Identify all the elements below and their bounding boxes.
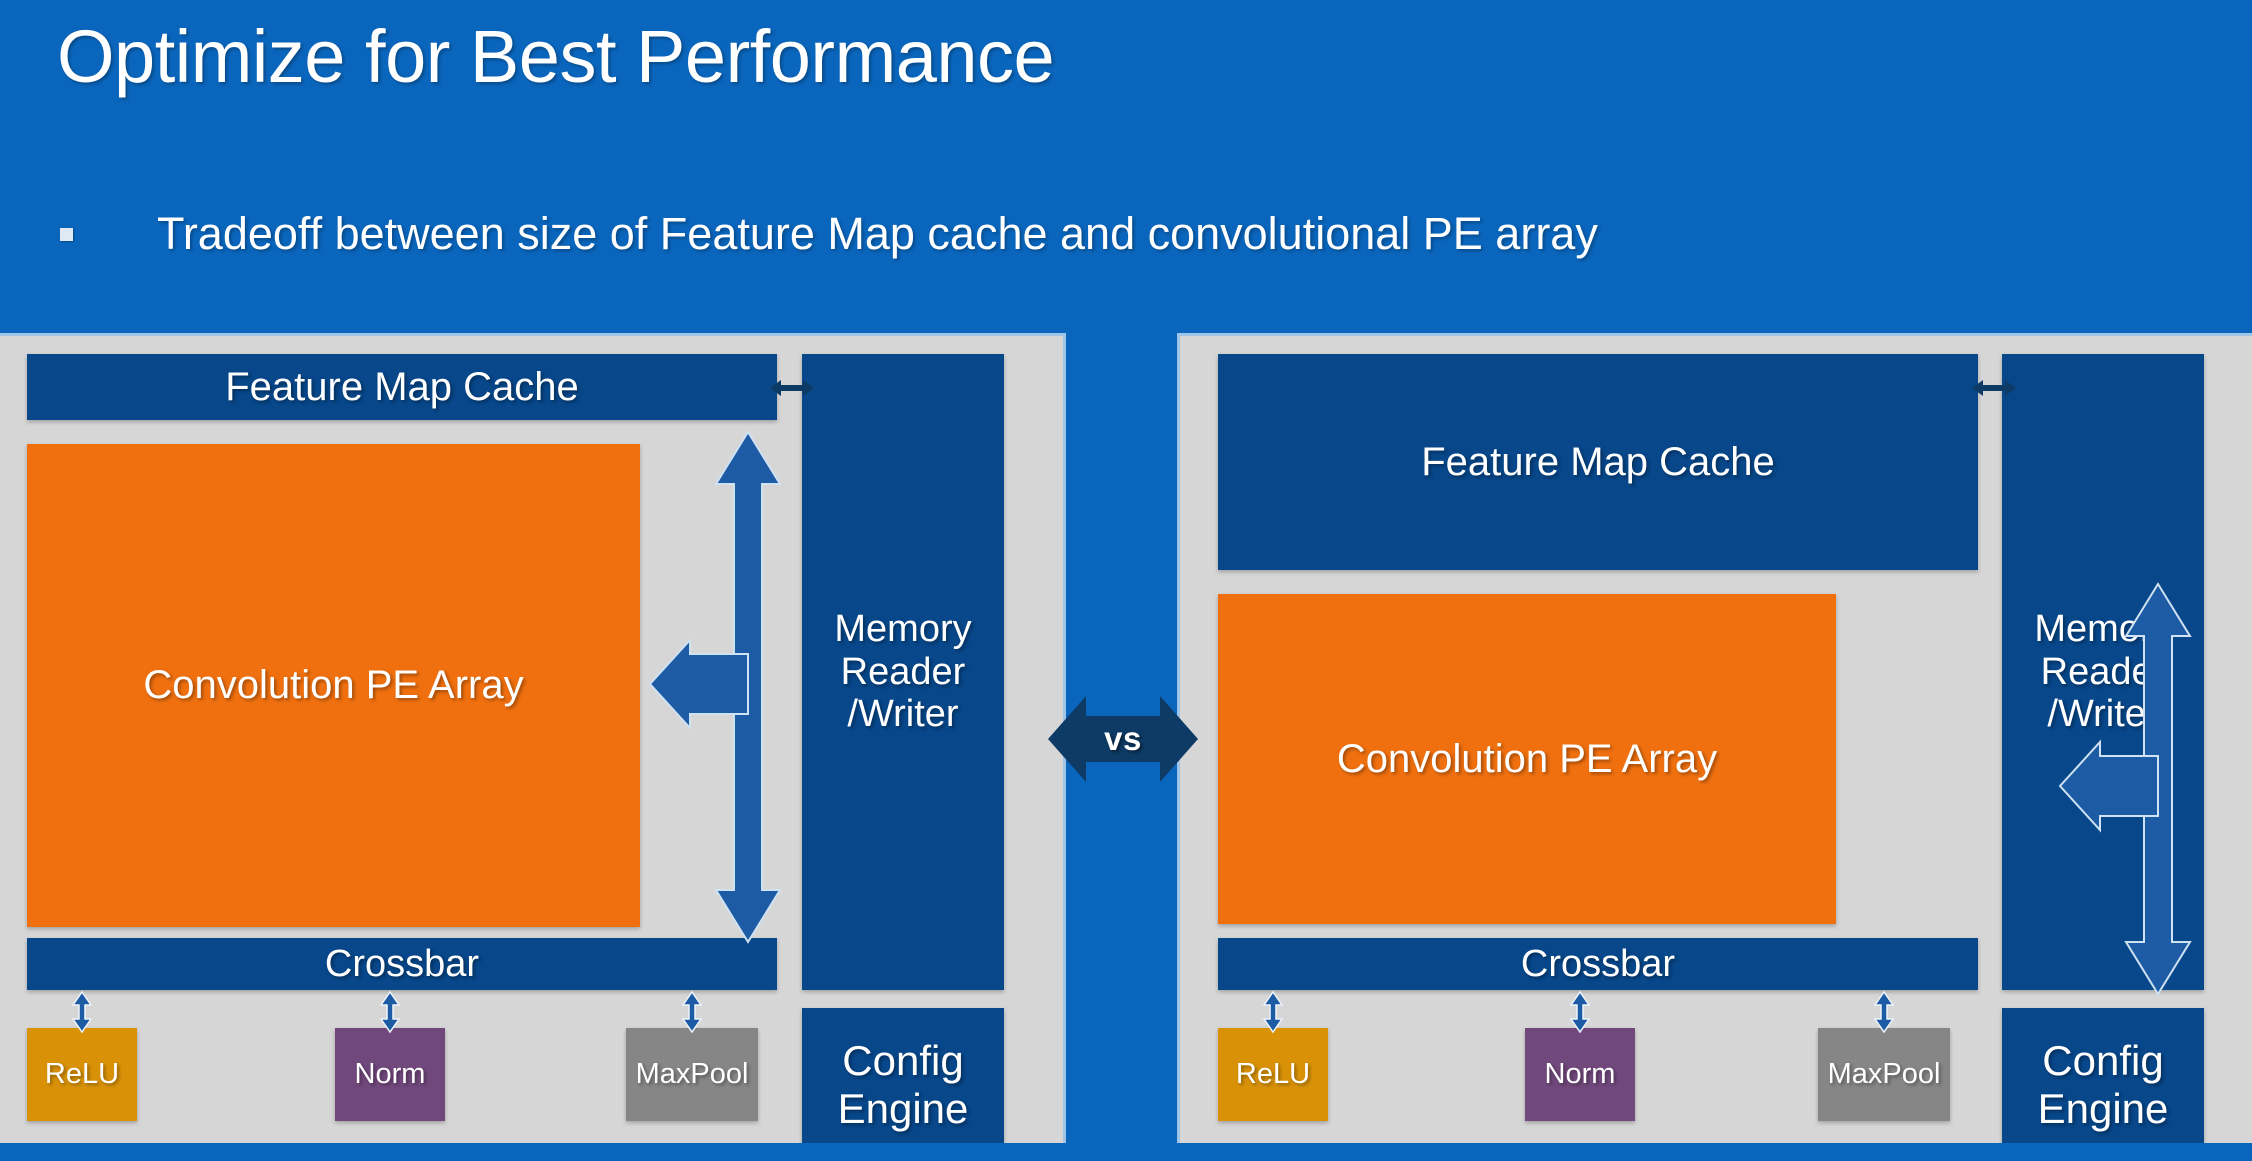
right-architecture-panel: Feature Map Cache Convolution PE Array C… (1180, 336, 2252, 1143)
left-mrw-line-2: Reader (841, 651, 966, 693)
right-cache-memory-link-arrow-icon (1972, 376, 2016, 400)
left-memory-reader-writer-block: Memory Reader /Writer (802, 354, 1004, 990)
right-relu-link-arrow-icon (1262, 992, 1284, 1032)
left-norm-link-arrow-icon (379, 992, 401, 1032)
slide-canvas: Optimize for Best Performance Tradeoff b… (0, 0, 2252, 1161)
right-maxpool-block: MaxPool (1818, 1028, 1950, 1121)
right-relu-block: ReLU (1218, 1028, 1328, 1121)
versus-label: vs (1104, 720, 1142, 758)
versus-badge: vs (1048, 696, 1198, 782)
right-crossbar-block: Crossbar (1218, 938, 1978, 990)
bullet-square-icon (60, 228, 73, 241)
left-datapath-arrow-icon (676, 432, 796, 942)
bottom-blue-strip (0, 1143, 2252, 1161)
left-relu-block: ReLU (27, 1028, 137, 1121)
left-cache-memory-link-arrow-icon (770, 376, 814, 400)
right-datapath-arrow-icon (2086, 584, 2206, 994)
left-norm-block: Norm (335, 1028, 445, 1121)
left-crossbar-block: Crossbar (27, 938, 777, 990)
left-feature-map-cache-block: Feature Map Cache (27, 354, 777, 420)
bullet-text: Tradeoff between size of Feature Map cac… (157, 208, 1598, 260)
left-mrw-line-1: Memory (834, 608, 971, 650)
bullet-row: Tradeoff between size of Feature Map cac… (60, 208, 1598, 260)
right-config-line-2: Engine (2038, 1085, 2169, 1132)
slide-header: Optimize for Best Performance Tradeoff b… (0, 0, 2252, 336)
right-config-line-1: Config (2042, 1037, 2163, 1084)
right-norm-block: Norm (1525, 1028, 1635, 1121)
left-maxpool-link-arrow-icon (681, 992, 703, 1032)
left-relu-link-arrow-icon (71, 992, 93, 1032)
left-mrw-line-3: /Writer (847, 693, 958, 735)
right-config-engine-block: Config Engine (2002, 1008, 2204, 1161)
right-maxpool-link-arrow-icon (1873, 992, 1895, 1032)
right-feature-map-cache-block: Feature Map Cache (1218, 354, 1978, 570)
right-norm-link-arrow-icon (1569, 992, 1591, 1032)
left-convolution-pe-array-block: Convolution PE Array (27, 444, 640, 927)
left-maxpool-block: MaxPool (626, 1028, 758, 1121)
left-config-line-2: Engine (838, 1085, 969, 1132)
right-convolution-pe-array-block: Convolution PE Array (1218, 594, 1836, 924)
left-config-line-1: Config (842, 1037, 963, 1084)
left-architecture-panel: Feature Map Cache Convolution PE Array C… (0, 336, 1063, 1143)
left-config-engine-block: Config Engine (802, 1008, 1004, 1161)
page-title: Optimize for Best Performance (57, 16, 1054, 97)
